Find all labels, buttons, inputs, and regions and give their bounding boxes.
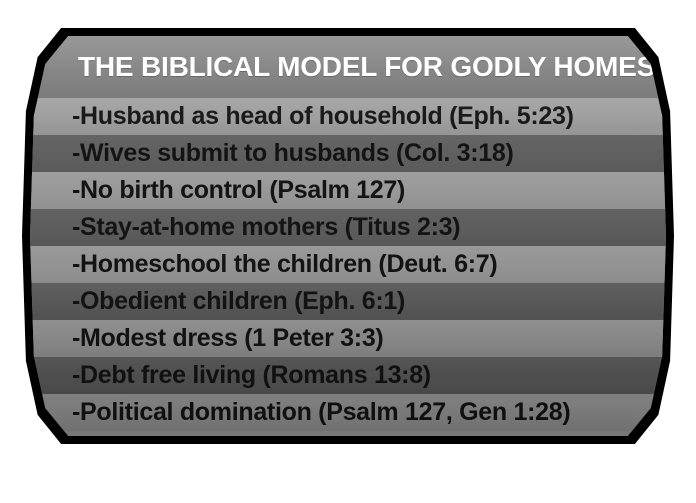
list-item: -Obedient children (Eph. 6:1) (30, 283, 666, 320)
list-item: -Stay-at-home mothers (Titus 2:3) (30, 209, 666, 246)
list-item-label: -Stay-at-home mothers (Titus 2:3) (30, 213, 460, 242)
title-band: THE BIBLICAL MODEL FOR GODLY HOMES (30, 36, 666, 98)
list-item-label: -Homeschool the children (Deut. 6:7) (30, 250, 497, 279)
list-item-label: -Debt free living (Romans 13:8) (30, 361, 431, 390)
list-item-label: -Political domination (Psalm 127, Gen 1:… (30, 398, 570, 427)
poster-canvas: THE BIBLICAL MODEL FOR GODLY HOMES -Husb… (0, 0, 696, 503)
list-item: -Homeschool the children (Deut. 6:7) (30, 246, 666, 283)
list-item-label: -Wives submit to husbands (Col. 3:18) (30, 139, 514, 168)
page-title: THE BIBLICAL MODEL FOR GODLY HOMES (30, 51, 655, 83)
list-item-label: -Husband as head of household (Eph. 5:23… (30, 102, 574, 131)
dog-tag-plate: THE BIBLICAL MODEL FOR GODLY HOMES -Husb… (30, 36, 666, 436)
list-item: -Political domination (Psalm 127, Gen 1:… (30, 394, 666, 431)
list-item: -Husband as head of household (Eph. 5:23… (30, 98, 666, 135)
list-item: -Modest dress (1 Peter 3:3) (30, 320, 666, 357)
list-item-label: -No birth control (Psalm 127) (30, 176, 405, 205)
list-item: -Wives submit to husbands (Col. 3:18) (30, 135, 666, 172)
dog-tag-frame: THE BIBLICAL MODEL FOR GODLY HOMES -Husb… (22, 28, 674, 444)
list-item-label: -Modest dress (1 Peter 3:3) (30, 324, 383, 353)
list-item: -No birth control (Psalm 127) (30, 172, 666, 209)
list-item: -Debt free living (Romans 13:8) (30, 357, 666, 394)
list-item-label: -Obedient children (Eph. 6:1) (30, 287, 405, 316)
principles-list: -Husband as head of household (Eph. 5:23… (30, 98, 666, 431)
